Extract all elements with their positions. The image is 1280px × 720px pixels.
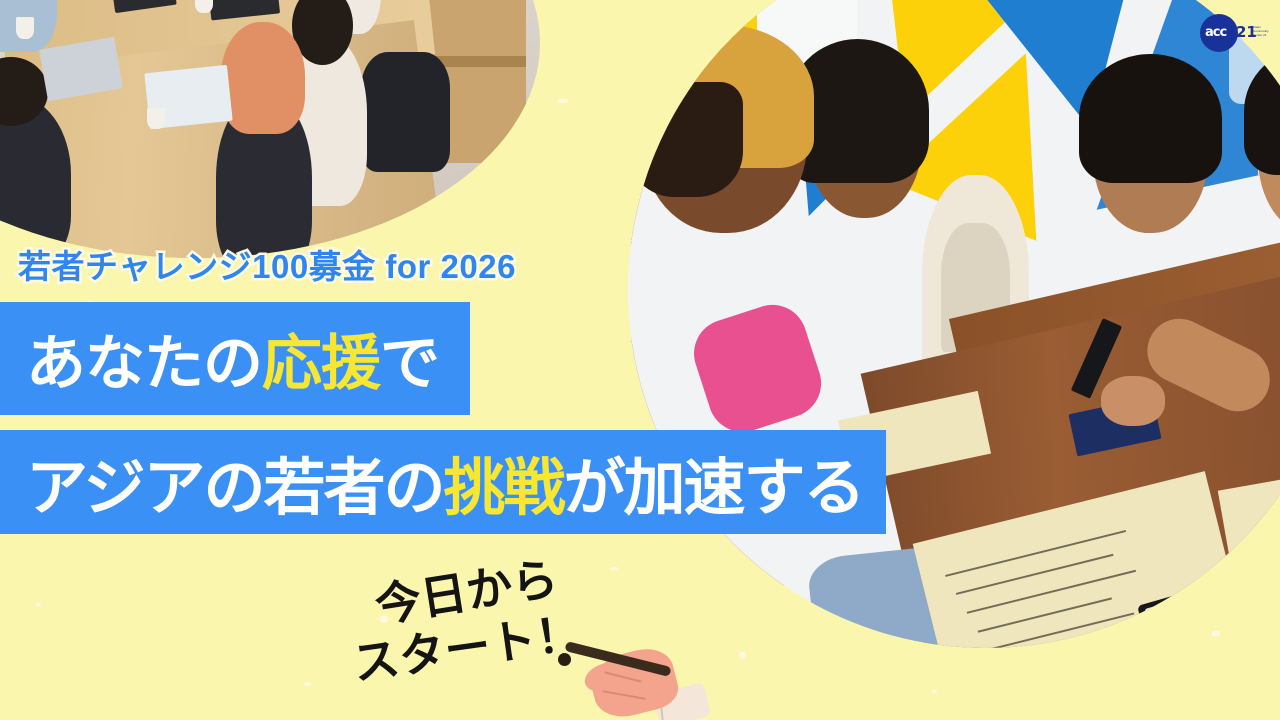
- headline-line-1-highlight: 応援: [262, 330, 380, 397]
- headline-band-1: あなたの応援で: [0, 302, 470, 415]
- pen-tip: [558, 653, 571, 666]
- campaign-subtitle: 若者チャレンジ100募金 for 2026: [18, 240, 516, 288]
- headline-line-1: あなたの応援で: [0, 315, 439, 402]
- hand-with-pen-icon: [578, 636, 708, 720]
- poster-canvas: acc 21 Asian Community Center 21 若者チャレンジ…: [0, 0, 1280, 720]
- headline-line-2-pre: アジアの若者の: [26, 454, 444, 523]
- headline-band-2: アジアの若者の挑戦が加速する: [0, 430, 886, 534]
- headline-line-1-pre: あなたの: [26, 330, 262, 397]
- headline-line-2-highlight: 挑戦: [444, 454, 564, 523]
- office-chair: [361, 52, 451, 172]
- photo-meeting-room: [0, 0, 540, 258]
- headline-line-2-post: が加速する: [564, 454, 864, 523]
- logo-mark-text: acc: [1205, 25, 1226, 40]
- person-writing-woman-hair: [1079, 54, 1222, 183]
- person-foreground-dark-hair: [628, 82, 743, 197]
- logo-subtext: Asian Community Center 21: [1253, 25, 1275, 38]
- photo-meeting-room-scene: [0, 0, 540, 258]
- writing-hand: [1101, 376, 1165, 426]
- paper-cup-1: [16, 17, 34, 39]
- headline-line-2: アジアの若者の挑戦が加速する: [0, 437, 864, 527]
- paper-cup-2: [147, 108, 165, 130]
- acc21-logo[interactable]: acc 21 Asian Community Center 21: [1196, 10, 1274, 54]
- paper-cup-3: [195, 0, 213, 13]
- headline-line-1-post: で: [380, 330, 439, 397]
- photo-youth-workshop: [628, 0, 1280, 648]
